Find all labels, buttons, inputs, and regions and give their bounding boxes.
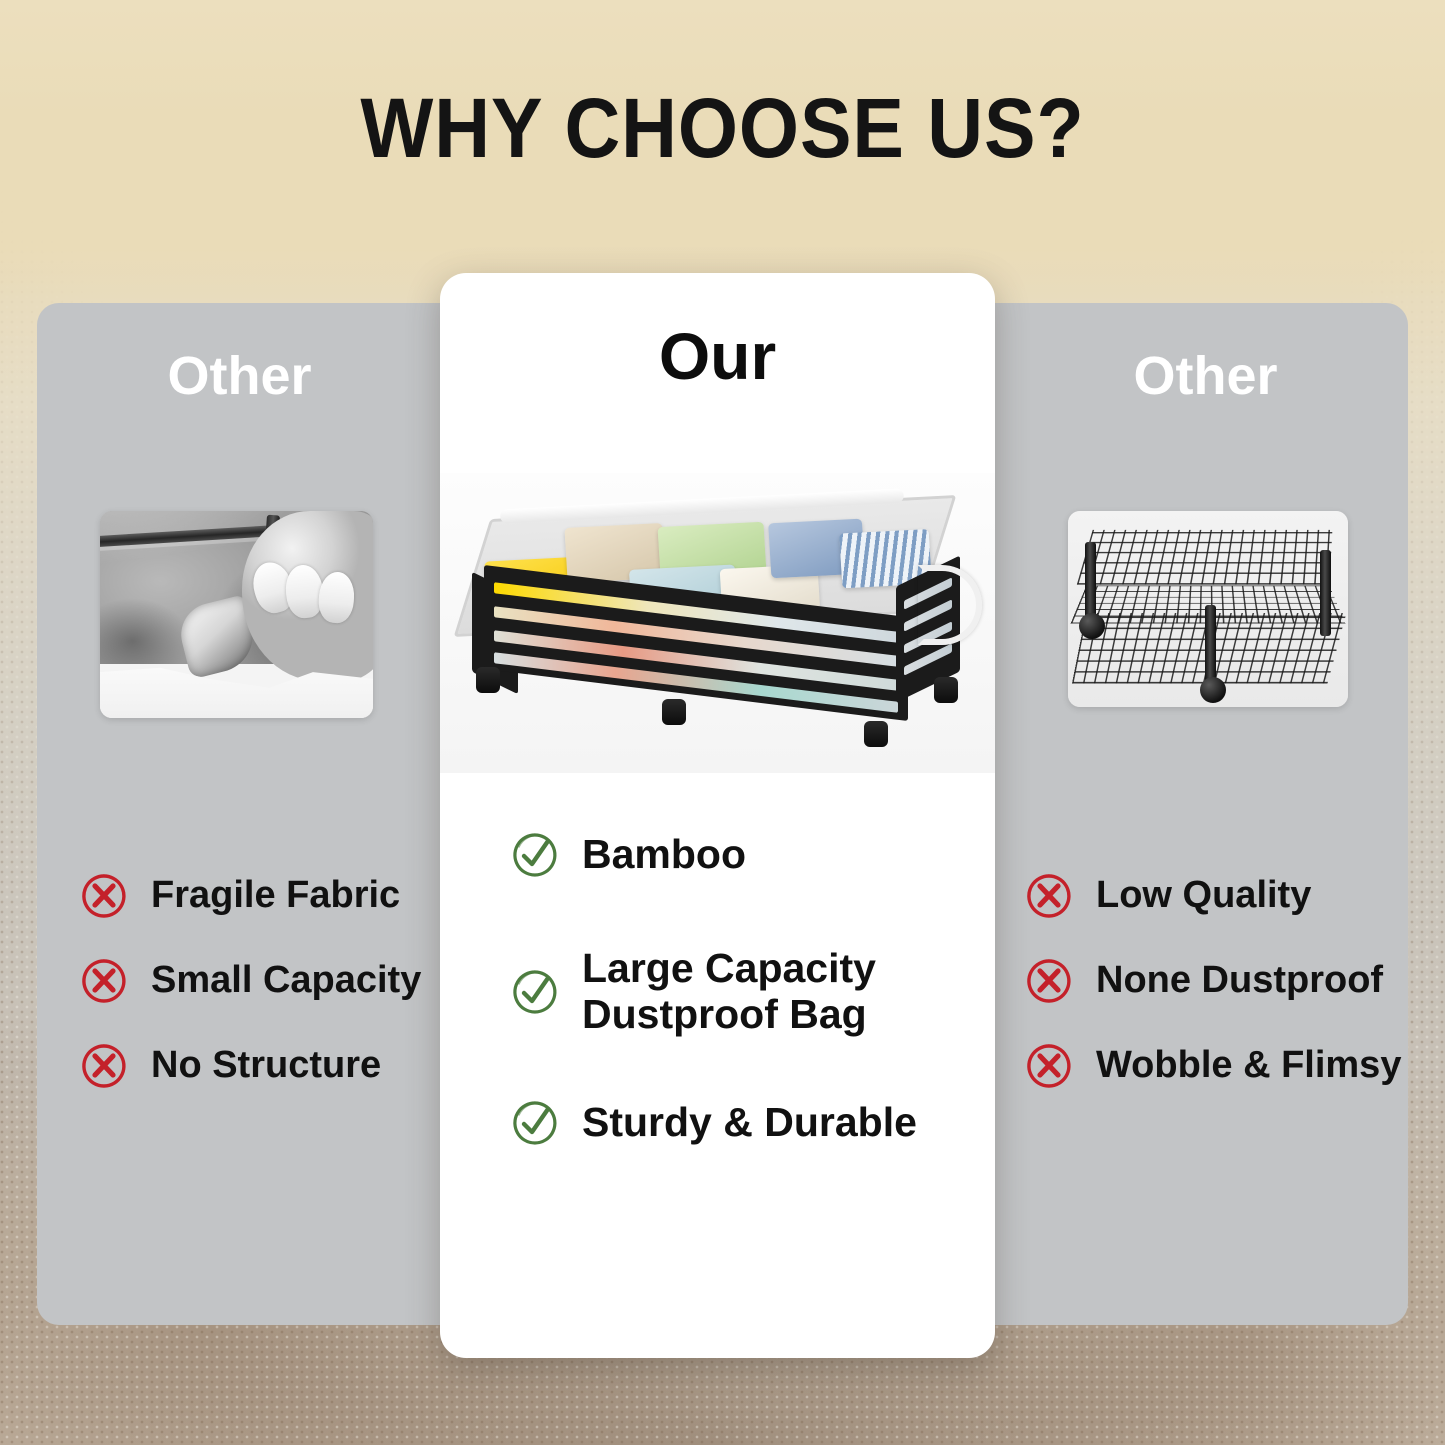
- list-item: No Structure: [79, 1023, 489, 1108]
- list-item: Wobble & Flimsy: [1024, 1023, 1424, 1108]
- list-item: Bamboo: [510, 830, 980, 880]
- cross-icon: [1024, 956, 1074, 1006]
- panel-center-heading: Our: [440, 323, 995, 389]
- list-item: Large Capacity Dustproof Bag: [510, 946, 980, 1038]
- fragile-bag-illustration: [100, 511, 373, 718]
- list-item-label: No Structure: [151, 1044, 381, 1087]
- cross-icon: [1024, 1041, 1074, 1091]
- list-item: None Dustproof: [1024, 938, 1424, 1023]
- panel-right-photo: [1068, 511, 1348, 707]
- cross-icon: [79, 1041, 129, 1091]
- panel-left-photo: [100, 511, 373, 718]
- list-item-label: Bamboo: [582, 832, 746, 878]
- cross-icon: [79, 956, 129, 1006]
- list-item-label: Wobble & Flimsy: [1096, 1044, 1401, 1087]
- storage-cart-illustration: [466, 499, 966, 737]
- list-item: Low Quality: [1024, 853, 1424, 938]
- panel-right-heading: Other: [923, 349, 1408, 403]
- list-item-label: Large Capacity Dustproof Bag: [582, 946, 876, 1038]
- cross-icon: [1024, 871, 1074, 921]
- panel-center-photo: [440, 473, 995, 773]
- feature-list-left: Fragile Fabric Small Capacity: [79, 853, 489, 1108]
- list-item-label: Sturdy & Durable: [582, 1100, 917, 1146]
- check-icon: [510, 1098, 560, 1148]
- list-item: Small Capacity: [79, 938, 489, 1023]
- comparison-card-center: Our: [440, 273, 995, 1358]
- cross-icon: [79, 871, 129, 921]
- feature-list-center: Bamboo Large Capacity Dustproof Bag: [510, 830, 980, 1148]
- infographic-canvas: WHY CHOOSE US? Other: [0, 0, 1445, 1445]
- list-item-label: Fragile Fabric: [151, 874, 400, 917]
- list-item: Sturdy & Durable: [510, 1098, 980, 1148]
- list-item-label: Low Quality: [1096, 874, 1311, 917]
- check-icon: [510, 830, 560, 880]
- feature-list-right: Low Quality None Dustproof: [1024, 853, 1424, 1108]
- comparison-panel-right: Other: [923, 303, 1408, 1325]
- list-item-label: Small Capacity: [151, 959, 421, 1002]
- list-item-label: None Dustproof: [1096, 959, 1383, 1002]
- page-title: WHY CHOOSE US?: [58, 86, 1387, 170]
- list-item: Fragile Fabric: [79, 853, 489, 938]
- check-icon: [510, 967, 560, 1017]
- wire-basket-illustration: [1068, 511, 1348, 707]
